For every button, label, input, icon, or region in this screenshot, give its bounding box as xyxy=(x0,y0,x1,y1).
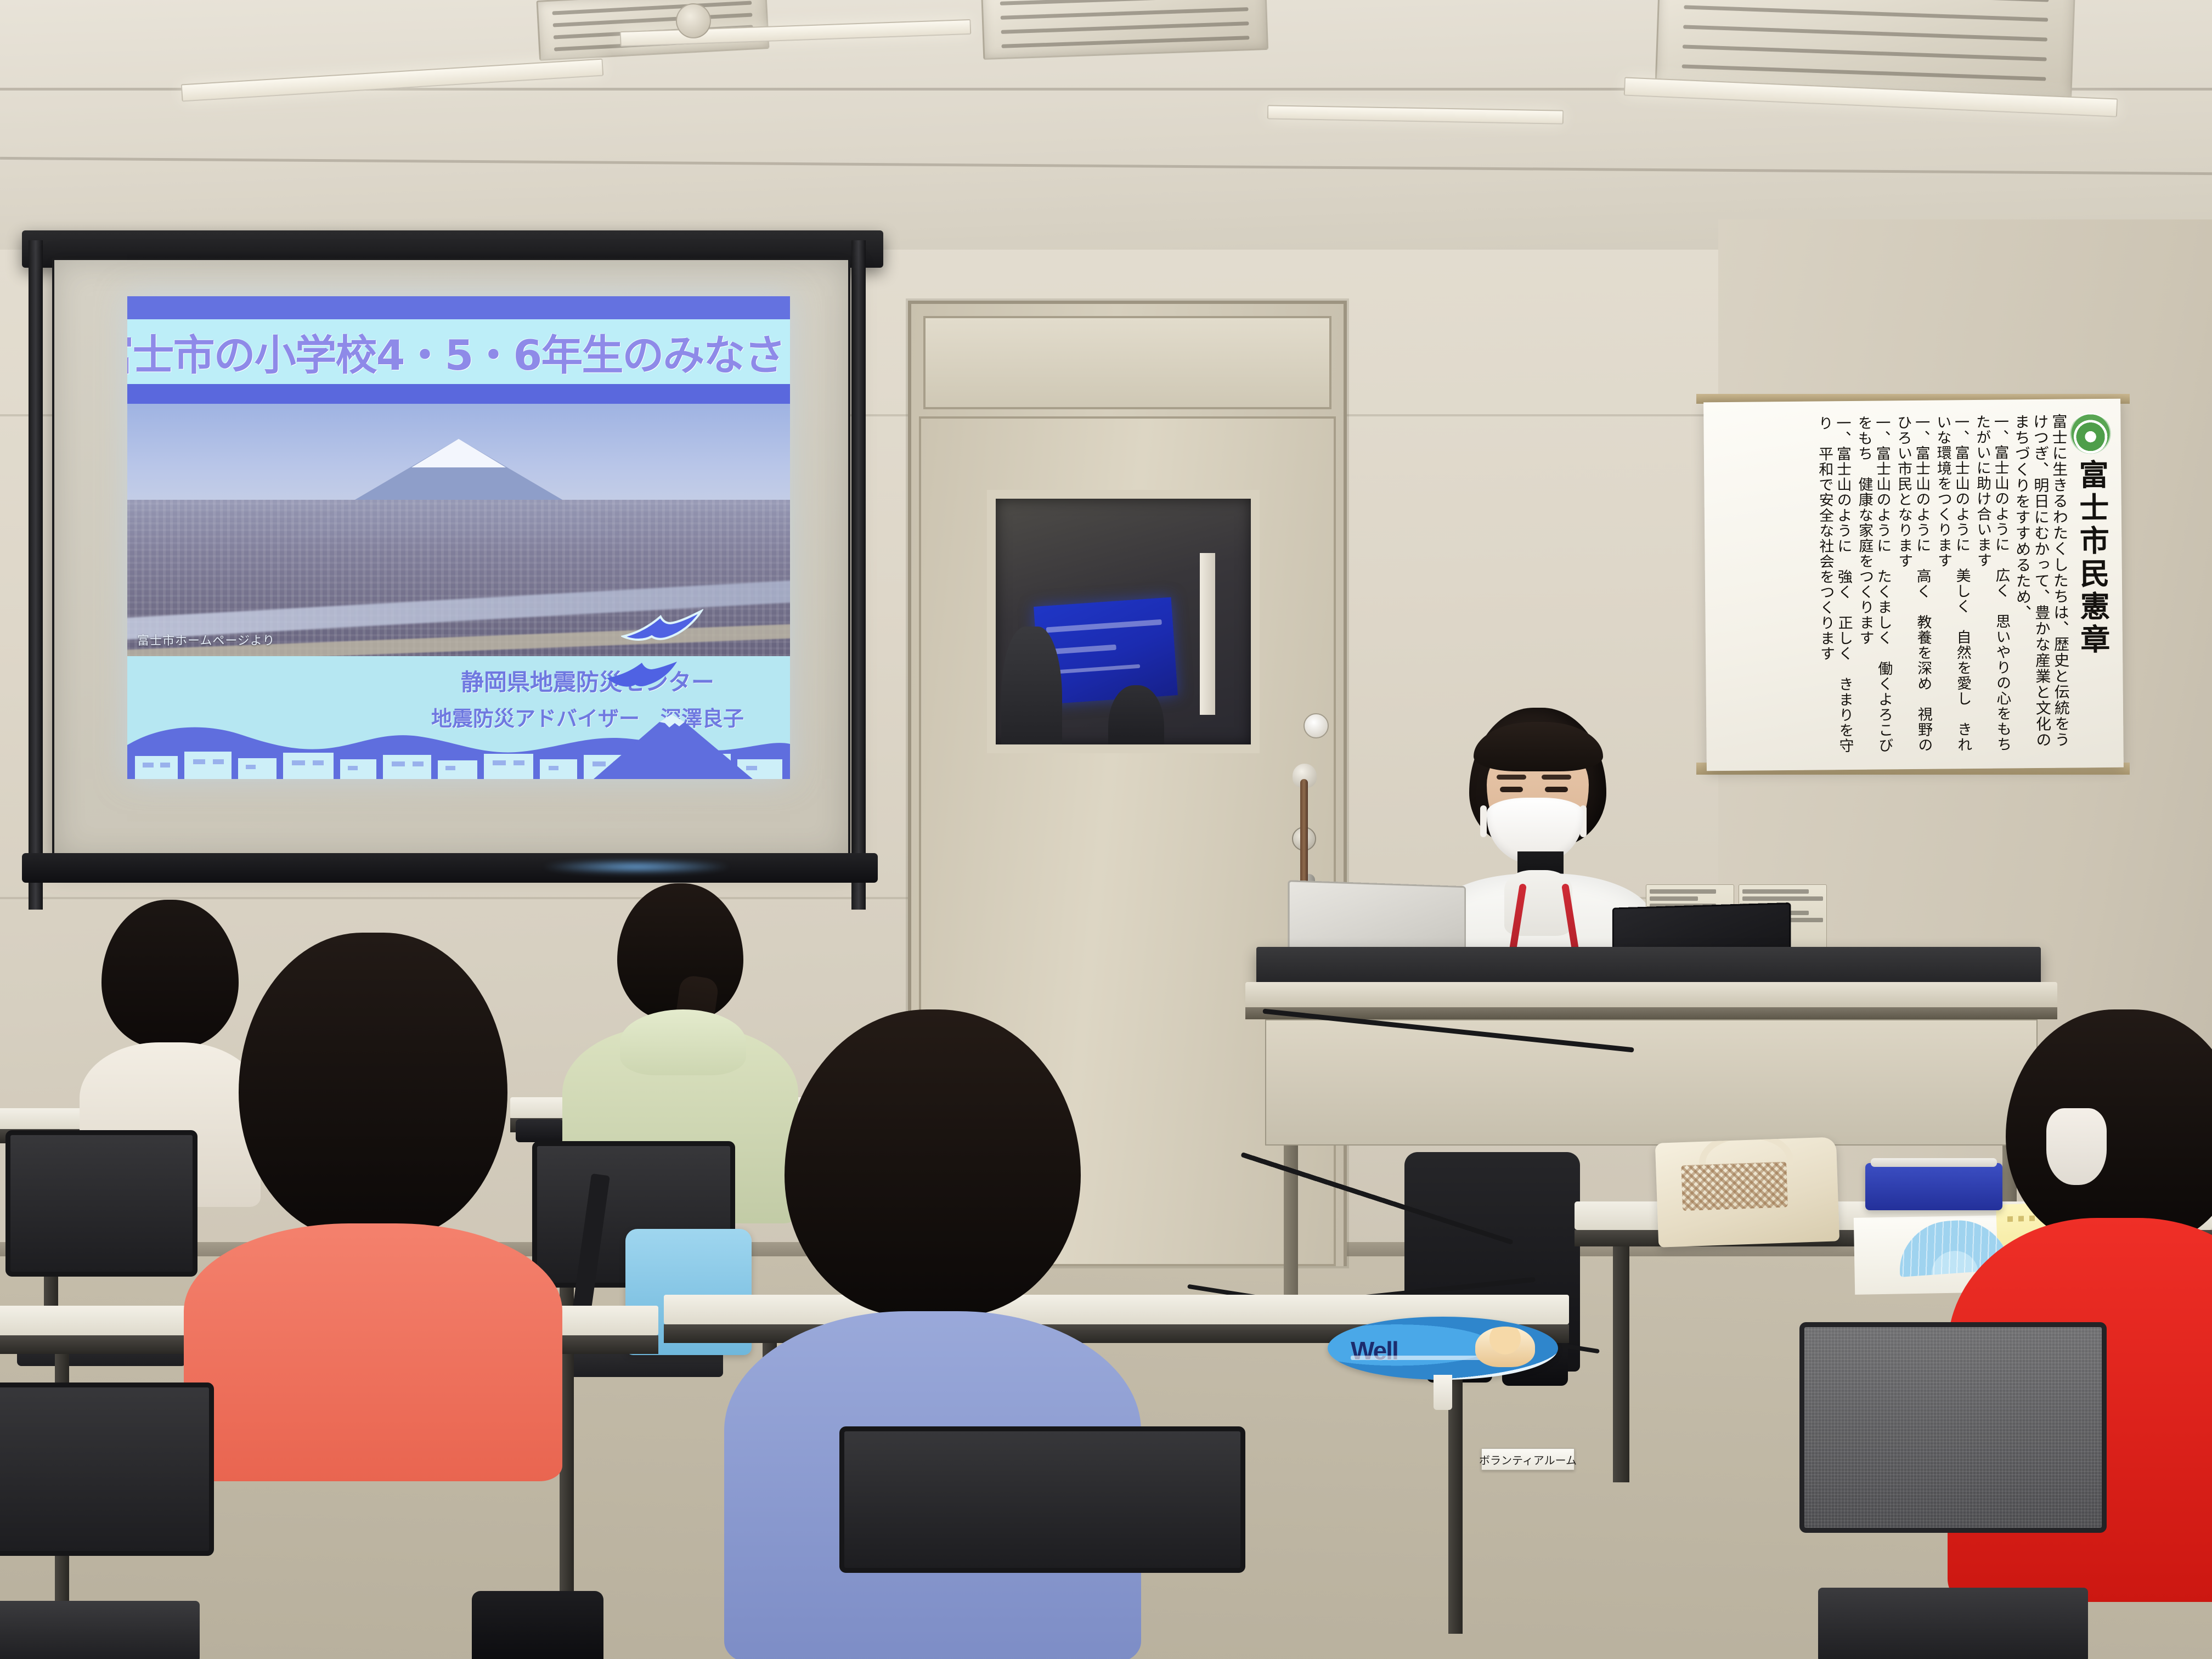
uchiwa-subtext xyxy=(1351,1356,1485,1360)
poster-article-4: 一、富士山のように たくましく 働くよろこびをもち 健康な家庭をつくります xyxy=(1854,415,1893,755)
bird-silhouette-lower xyxy=(606,662,678,698)
student-hair xyxy=(785,1009,1081,1317)
adjacent-room-person-a xyxy=(1001,627,1062,744)
uchiwa-mascot-icon xyxy=(1475,1327,1535,1367)
tote-bag-print xyxy=(1681,1161,1787,1211)
projector-screen-bottom-bar xyxy=(22,853,878,883)
ceiling-light-far xyxy=(1267,105,1564,124)
uchiwa-handle xyxy=(1434,1375,1452,1410)
door-viewing-window xyxy=(987,490,1259,753)
photo-credit: 富士市ホームページより xyxy=(137,631,275,648)
slide-lower-area: 静岡県地震防災センター 地震防災アドバイザー 深澤良子 xyxy=(127,656,790,779)
classroom-scene: 富士市の小学校4・5・6年生のみなさま 富士市ホームページより 静岡県地震防災セ… xyxy=(0,0,2212,1659)
student-hair xyxy=(2006,1009,2212,1245)
teacher-desk-edge xyxy=(1245,1007,2057,1019)
screen-arm-left xyxy=(29,240,43,910)
student-face-mask xyxy=(2046,1108,2107,1185)
slide-under-band xyxy=(127,384,790,404)
screen-bar-reflection xyxy=(543,860,730,874)
bird-silhouette-upper xyxy=(621,609,703,648)
slide-top-band xyxy=(127,296,790,319)
ceiling-vent-center xyxy=(981,0,1268,60)
door-transom xyxy=(923,316,1331,409)
slide-title: 富士市の小学校4・5・6年生のみなさま xyxy=(127,321,790,382)
chair-row2-center[interactable] xyxy=(839,1426,1245,1659)
mount-fuji-snowcap xyxy=(411,439,506,467)
credit-organisation: 静岡県地震防災センター xyxy=(431,664,744,697)
poster-article-5: 一、富士山のように 強く 正しく きまりを守り 平和で安全な社会をつくります xyxy=(1814,415,1853,756)
poster-article-1: 一、富士山のように 広く 思いやりの心をもち たがいに助け合います xyxy=(1972,414,2011,754)
poster-preamble: 富士に生きるわたくしたちは、歴史と伝統をうけつぎ、明日にむかって、豊かな産業と文… xyxy=(2012,414,2071,754)
slide-hills-illustration xyxy=(127,713,790,779)
tote-bag[interactable] xyxy=(1655,1137,1839,1247)
poster-article-3: 一、富士山のように 高く 教養を深め 視野のひろい市民となります xyxy=(1893,415,1932,755)
presentation-slide: 富士市の小学校4・5・6年生のみなさま 富士市ホームページより 静岡県地震防災セ… xyxy=(127,296,790,779)
student-shirt xyxy=(184,1223,562,1481)
student-hair xyxy=(239,933,507,1240)
adjacent-room-pillar xyxy=(1200,553,1215,715)
promotional-uchiwa-fan[interactable]: Well xyxy=(1328,1317,1558,1404)
chair-row2-left[interactable] xyxy=(0,1383,214,1659)
fuji-city-emblem-icon xyxy=(2070,413,2111,454)
ceiling-speaker xyxy=(676,3,711,38)
ceiling-light-left xyxy=(181,59,604,102)
screen-arm-right xyxy=(851,240,866,910)
student-coral xyxy=(181,933,565,1481)
teacher-desk-top xyxy=(1245,982,2057,1007)
wall-fixture xyxy=(1304,713,1329,738)
chair-row2-right[interactable] xyxy=(1799,1322,2107,1659)
fuji-citizens-charter-poster: 富士市民憲章 富士に生きるわたくしたちは、歴史と伝統をうけつぎ、明日にむかって、… xyxy=(1703,399,2124,771)
poster-article-2: 一、富士山のように 美しく 自然を愛し きれいな環境をつくります xyxy=(1933,414,1972,755)
uchiwa-brand-label: Well xyxy=(1351,1336,1398,1365)
poster-title: 富士市民憲章 xyxy=(2076,459,2107,657)
teacher-desk-modesty-panel xyxy=(1265,1019,2038,1145)
bag-on-floor[interactable] xyxy=(472,1591,603,1659)
uchiwa-face: Well xyxy=(1328,1317,1558,1380)
slide-title-area: 富士市の小学校4・5・6年生のみなさま xyxy=(127,319,790,384)
